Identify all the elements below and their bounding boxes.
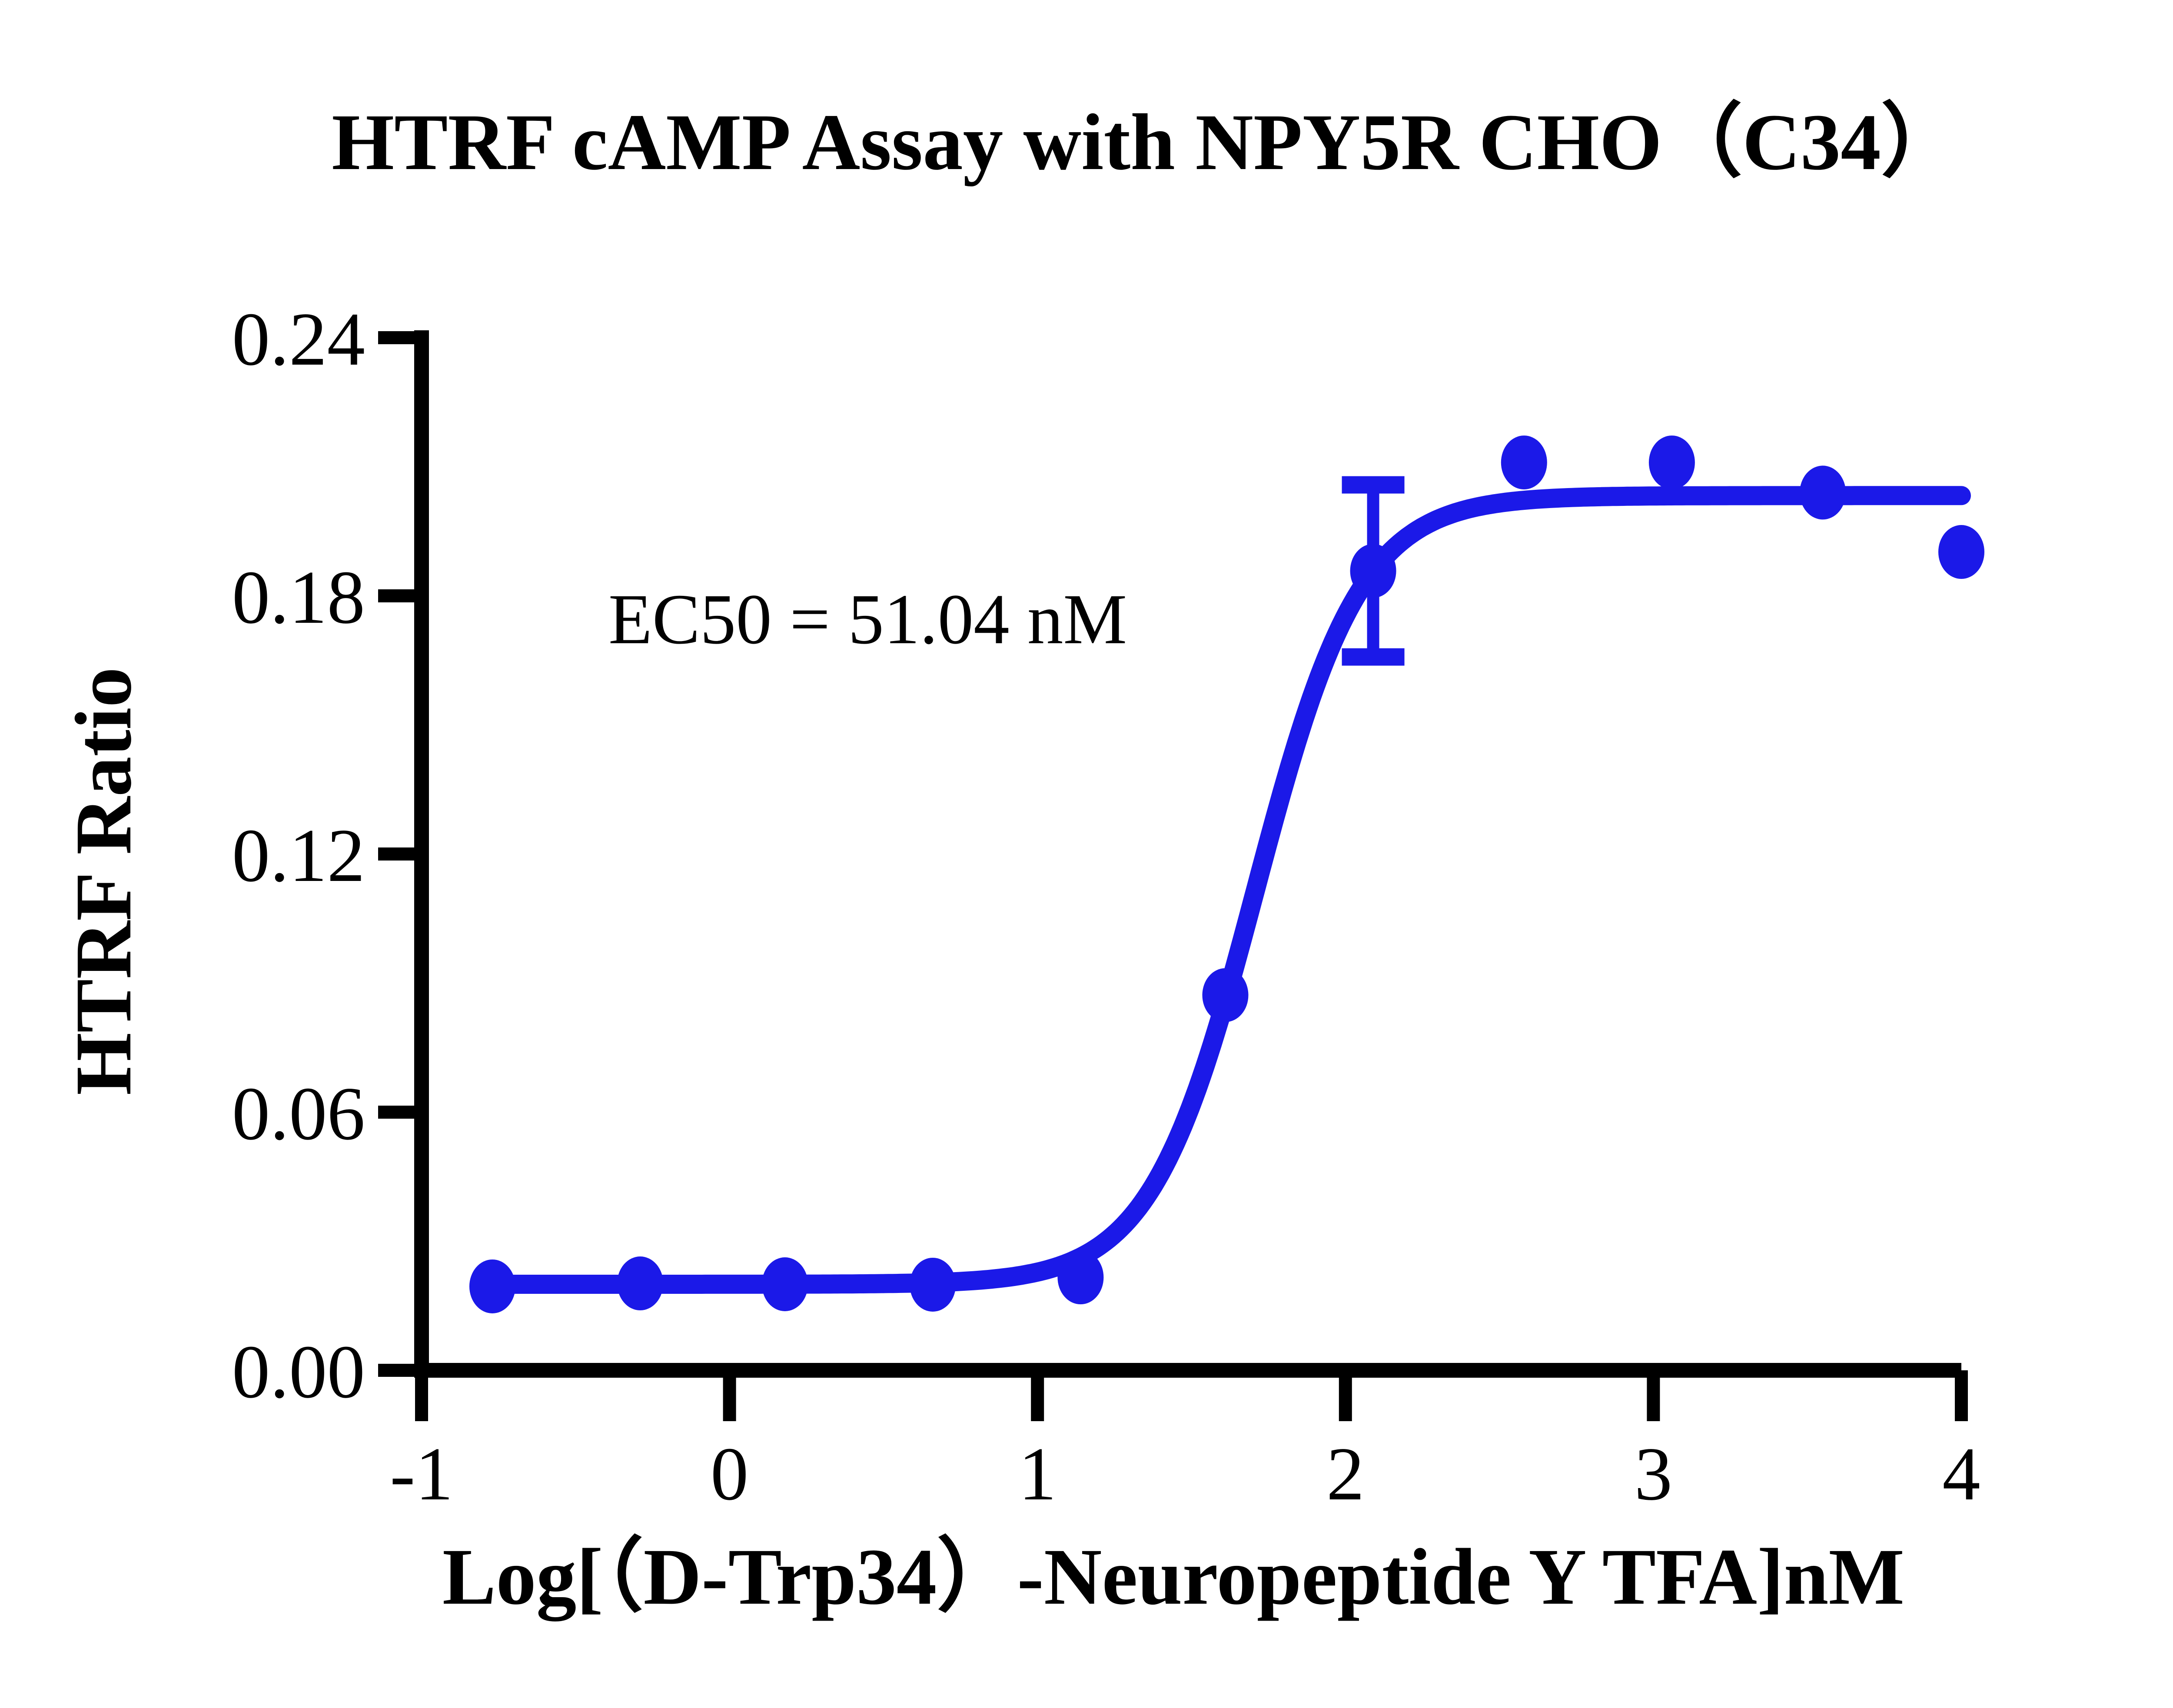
y-axis-tick-labels: 0.000.060.120.180.24 (232, 297, 365, 1414)
x-tick-label: 1 (1018, 1432, 1057, 1516)
y-tick-label: 0.12 (232, 813, 365, 897)
figure-root: HTRF cAMP Assay with NPY5R CHO（C34） 0.00… (0, 0, 2173, 1708)
y-axis-title: HTRF Ratio (59, 667, 148, 1095)
y-tick-label: 0.18 (232, 555, 365, 639)
ec50-annotation: EC50 = 51.04 nM (608, 579, 1127, 659)
y-tick-label: 0.06 (232, 1071, 365, 1156)
data-point (1202, 968, 1248, 1022)
y-tick-label: 0.24 (232, 297, 365, 381)
data-point (617, 1256, 663, 1310)
x-tick-label: -1 (390, 1432, 453, 1516)
x-tick-label: 4 (1942, 1432, 1980, 1516)
plot-area: 0.000.060.120.180.24 -101234 EC50 = 51.0… (0, 0, 2173, 1708)
x-tick-label: 3 (1635, 1432, 1673, 1516)
x-axis-ticks (422, 1370, 1961, 1421)
data-point (910, 1258, 956, 1312)
data-point (469, 1259, 515, 1313)
data-point (762, 1257, 808, 1311)
data-point (1649, 435, 1695, 489)
x-tick-label: 0 (711, 1432, 749, 1516)
data-point (1350, 544, 1396, 598)
data-point (1057, 1250, 1103, 1304)
y-tick-label: 0.00 (232, 1329, 365, 1414)
x-axis-tick-labels: -101234 (390, 1432, 1980, 1516)
data-point (1938, 525, 1984, 579)
data-point-markers (469, 435, 1984, 1313)
data-point (1501, 435, 1547, 489)
x-axis-title: Log[（D-Trp34）-Neuropeptide Y TFA]nM (442, 1532, 1904, 1622)
x-tick-label: 2 (1326, 1432, 1365, 1516)
data-point (1800, 465, 1846, 519)
